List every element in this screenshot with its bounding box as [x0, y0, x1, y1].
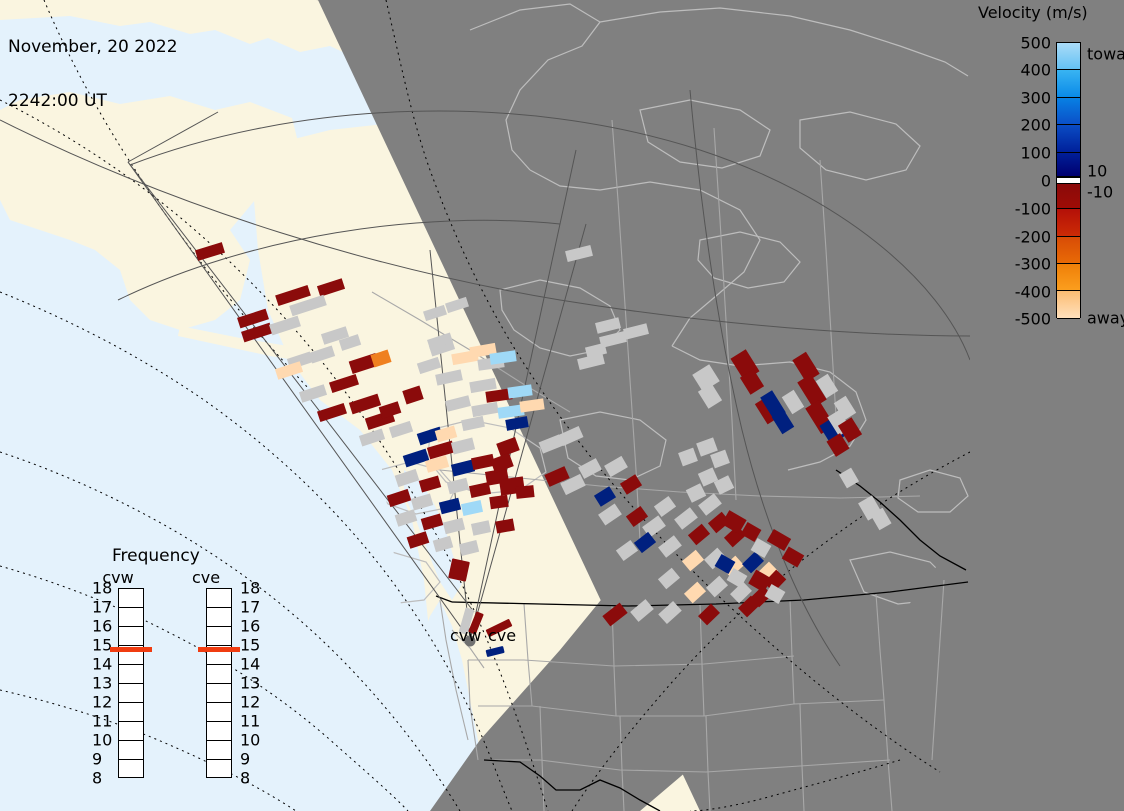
colorbar-segment — [1057, 125, 1080, 152]
colorbar-tick-label: -300 — [1015, 255, 1051, 274]
frequency-scale-segment — [207, 741, 231, 760]
colorbar-tick-label: 200 — [1020, 116, 1051, 135]
site-label-cvw: cvw — [450, 626, 481, 645]
frequency-current-marker — [110, 647, 152, 652]
colorbar-away-label: away — [1087, 308, 1124, 327]
colorbar-tick-label: -200 — [1015, 227, 1051, 246]
frequency-tick-label: 9 — [92, 750, 102, 769]
frequency-tick-label: 17 — [92, 598, 112, 617]
map-panel[interactable]: November, 20 2022 2242:00 UT cvw cve Fre… — [0, 0, 970, 811]
frequency-tick-label: 10 — [92, 731, 112, 750]
frequency-scale-segment — [119, 589, 143, 608]
colorbar-segment — [1057, 43, 1080, 70]
frequency-tick-label: 14 — [240, 655, 260, 674]
colorbar-pos-threshold-label: 10 — [1087, 161, 1107, 180]
colorbar-toward-label: toward — [1087, 44, 1124, 63]
colorbar-tick-label: 100 — [1020, 143, 1051, 162]
radar-cell — [489, 495, 508, 509]
colorbar-neg-threshold-label: -10 — [1087, 182, 1113, 201]
colorbar-tick-label: 300 — [1020, 88, 1051, 107]
colorbar-tick-label: 500 — [1020, 34, 1051, 53]
colorbar-segment — [1057, 264, 1080, 291]
frequency-tick-label: 9 — [240, 750, 250, 769]
frequency-tick-label: 11 — [92, 712, 112, 731]
colorbar-segment — [1057, 153, 1080, 178]
frequency-tick-label: 12 — [92, 693, 112, 712]
frequency-tick-label: 16 — [240, 617, 260, 636]
frequency-tick-label: 11 — [240, 712, 260, 731]
frequency-tick-label: 14 — [92, 655, 112, 674]
frequency-scale-segment — [119, 665, 143, 684]
colorbar-tick-label: -500 — [1015, 310, 1051, 329]
colorbar-segment — [1057, 184, 1080, 209]
frequency-scale-segment — [207, 722, 231, 741]
timestamp-date: November, 20 2022 — [8, 38, 178, 56]
colorbar-tick-label: -100 — [1015, 200, 1051, 219]
frequency-scale-segment — [207, 589, 231, 608]
frequency-scale-segment — [207, 608, 231, 627]
frequency-scale-segment — [207, 684, 231, 703]
frequency-tick-label: 16 — [92, 617, 112, 636]
colorbar-segment — [1057, 291, 1080, 318]
colorbar-tick-label: 0 — [1041, 172, 1051, 191]
colorbar-tick-label: 400 — [1020, 61, 1051, 80]
frequency-tick-label: 18 — [240, 579, 260, 598]
frequency-tick-label: 12 — [240, 693, 260, 712]
timestamp-block: November, 20 2022 2242:00 UT — [8, 2, 178, 146]
colorbar-tick-label: -400 — [1015, 282, 1051, 301]
frequency-tick-label: 8 — [240, 769, 250, 788]
frequency-scale-segment — [207, 760, 231, 779]
frequency-tick-label: 13 — [92, 674, 112, 693]
timestamp-time: 2242:00 UT — [8, 92, 178, 110]
frequency-radar-name: cve — [192, 568, 220, 587]
superdarn-velocity-map: November, 20 2022 2242:00 UT cvw cve Fre… — [0, 0, 1124, 811]
colorbar-gradient: 5004003002001000-100-200-300-400-500towa… — [1056, 42, 1081, 318]
site-label-cve: cve — [488, 626, 516, 645]
colorbar-segment — [1057, 237, 1080, 264]
frequency-scale-segment — [119, 627, 143, 646]
frequency-scale-segment — [119, 722, 143, 741]
colorbar-segment — [1057, 98, 1080, 125]
velocity-colorbar-panel: Velocity (m/s) 5004003002001000-100-200-… — [970, 0, 1124, 811]
frequency-scale-segment — [207, 665, 231, 684]
frequency-scale-segment — [119, 703, 143, 722]
frequency-legend-title: Frequency — [112, 546, 200, 566]
frequency-tick-label: 10 — [240, 731, 260, 750]
frequency-scale-box — [206, 588, 232, 778]
frequency-scale-segment — [119, 684, 143, 703]
frequency-scale-box — [118, 588, 144, 778]
frequency-tick-label: 8 — [92, 769, 102, 788]
frequency-scale-segment — [119, 760, 143, 779]
frequency-scale-segment — [207, 627, 231, 646]
colorbar-segment — [1057, 70, 1080, 97]
frequency-tick-label: 18 — [92, 579, 112, 598]
frequency-scale-segment — [119, 741, 143, 760]
frequency-scale-segment — [207, 703, 231, 722]
frequency-tick-label: 13 — [240, 674, 260, 693]
frequency-scale-segment — [119, 608, 143, 627]
frequency-tick-label: 17 — [240, 598, 260, 617]
colorbar-segment — [1057, 209, 1080, 236]
colorbar-zero-gap — [1057, 177, 1080, 184]
radar-cell — [515, 485, 534, 499]
frequency-tick-label: 15 — [240, 636, 260, 655]
frequency-current-marker — [198, 647, 240, 652]
colorbar-title: Velocity (m/s) — [978, 3, 1088, 22]
